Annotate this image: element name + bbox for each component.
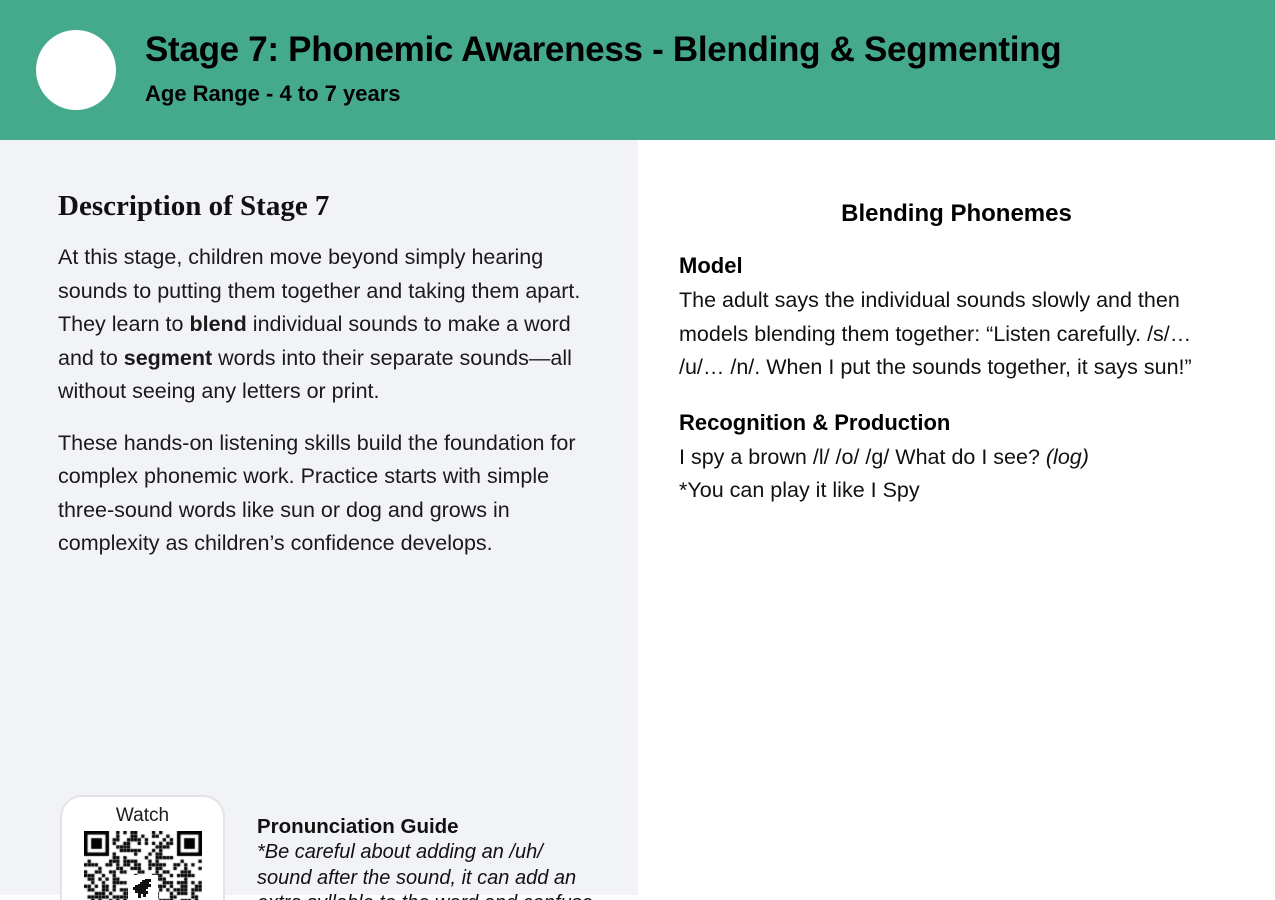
circle-badge-icon [36, 30, 116, 110]
dinosaur-icon [128, 875, 158, 900]
header-banner: Stage 7: Phonemic Awareness - Blending &… [0, 0, 1275, 140]
description-block: Description of Stage 7 At this stage, ch… [58, 190, 603, 579]
text-run: These hands-on listening skills build th… [58, 431, 576, 556]
model-heading: Model [679, 250, 1244, 282]
i-spy-line: I spy a brown /l/ /o/ /g/ What do I see? [679, 445, 1046, 469]
pronunciation-guide-block: Pronunciation Guide *Be careful about ad… [257, 795, 597, 900]
watch-qr-card-left[interactable]: Watch [60, 795, 225, 900]
right-panel-title: Blending Phonemes [638, 200, 1275, 228]
recognition-production-heading: Recognition & Production [679, 407, 1244, 439]
recognition-production-body: I spy a brown /l/ /o/ /g/ What do I see?… [679, 441, 1209, 508]
description-paragraph-1: At this stage, children move beyond simp… [58, 241, 603, 409]
model-body: The adult says the individual sounds slo… [679, 284, 1209, 385]
qr-code-icon[interactable] [84, 831, 202, 900]
i-spy-note: *You can play it like I Spy [679, 478, 920, 502]
watch-label: Watch [116, 803, 169, 829]
emphasis-term: blend [189, 312, 246, 336]
description-heading: Description of Stage 7 [58, 190, 603, 223]
page-title: Stage 7: Phonemic Awareness - Blending &… [145, 25, 1235, 75]
emphasis-term: segment [124, 346, 212, 370]
pronunciation-guide-title: Pronunciation Guide [257, 813, 597, 840]
left-qr-row: Watch Pronunciation Guide *Be careful ab… [60, 795, 620, 900]
age-range-label: Age Range - 4 to 7 years [145, 79, 1235, 109]
slide-page: Stage 7: Phonemic Awareness - Blending &… [0, 0, 1275, 900]
pronunciation-guide-note: *Be careful about adding an /uh/ sound a… [257, 840, 597, 900]
right-panel: Blending Phonemes Model The adult says t… [638, 140, 1275, 900]
i-spy-answer: (log) [1046, 445, 1089, 469]
left-panel: Description of Stage 7 At this stage, ch… [0, 140, 638, 895]
right-content-block: Model The adult says the individual soun… [679, 250, 1244, 508]
description-paragraph-2: These hands-on listening skills build th… [58, 427, 603, 561]
header-text-group: Stage 7: Phonemic Awareness - Blending &… [145, 25, 1235, 109]
